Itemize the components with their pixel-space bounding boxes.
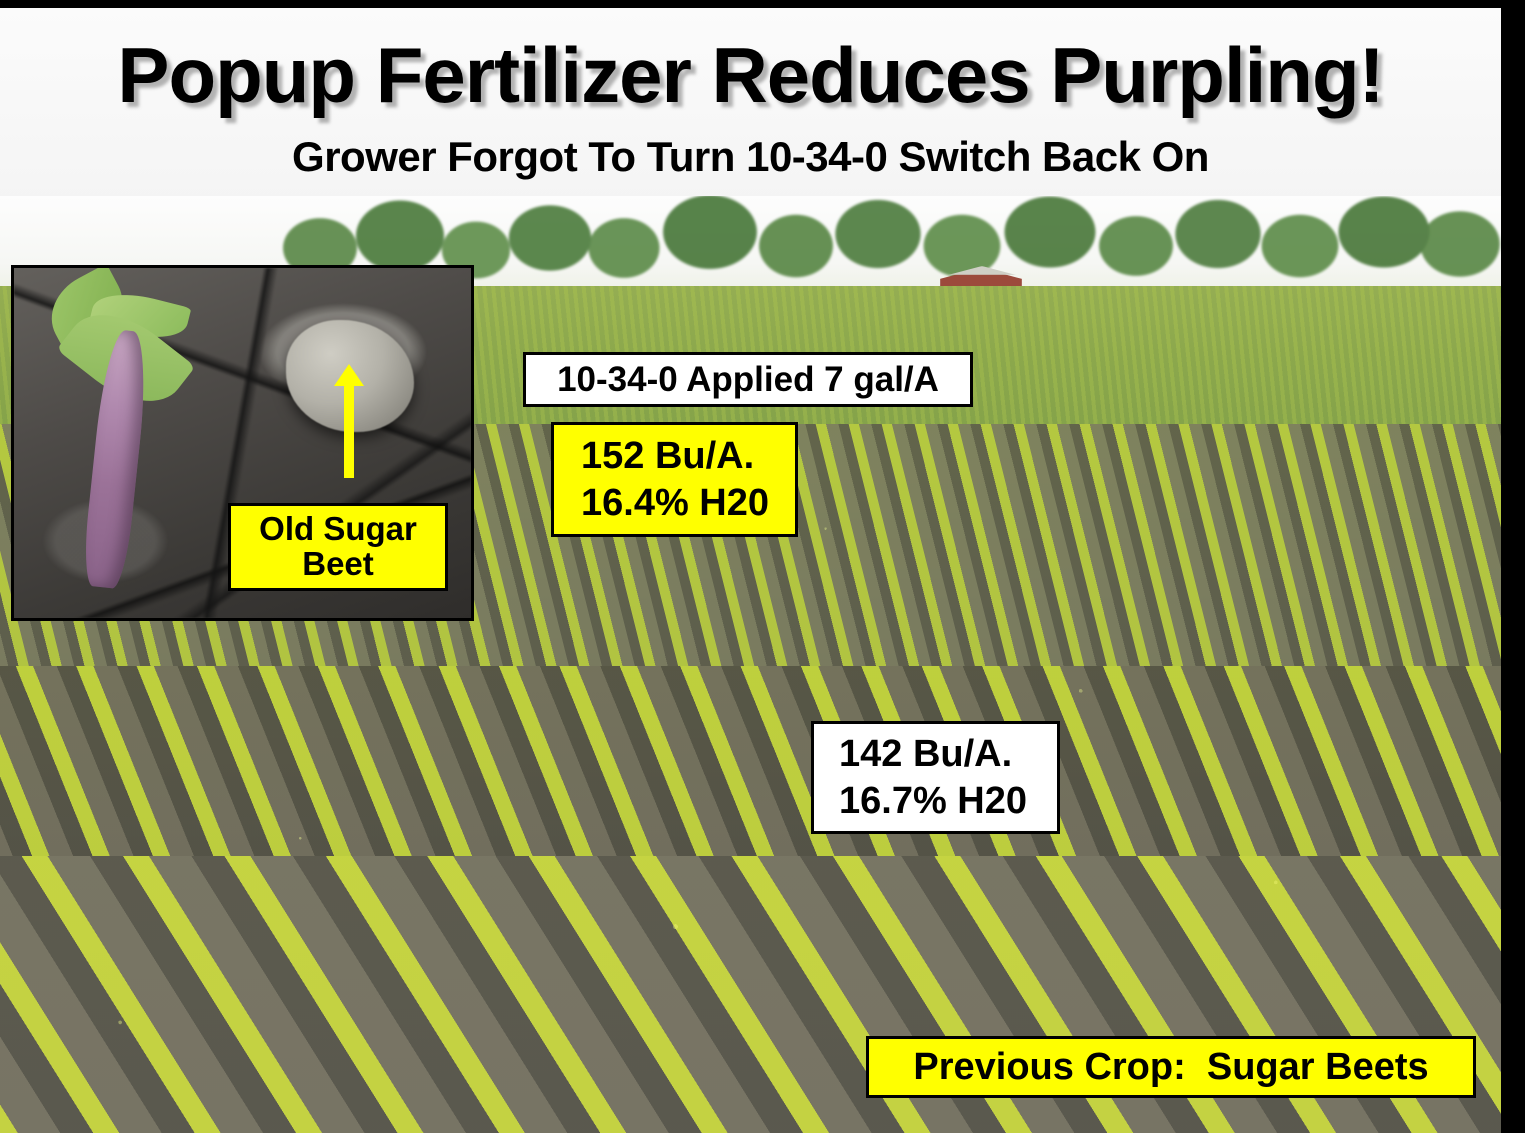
fertilizer-rate-text: 10-34-0 Applied 7 gal/A <box>557 360 939 400</box>
slide-subtitle: Grower Forgot To Turn 10-34-0 Switch Bac… <box>0 133 1501 181</box>
callout-treated-yield: 152 Bu/A. 16.4% H20 <box>551 422 798 537</box>
arrow-shaft <box>344 378 354 478</box>
inset-label-line-2: Beet <box>302 547 374 582</box>
purpled-corn-seedling <box>40 270 210 600</box>
treated-moisture-value: 16.4% H20 <box>581 480 795 526</box>
callout-untreated-yield: 142 Bu/A. 16.7% H20 <box>811 721 1060 834</box>
inset-label-old-sugar-beet: Old Sugar Beet <box>228 503 448 591</box>
callout-fertilizer-rate: 10-34-0 Applied 7 gal/A <box>523 352 973 407</box>
slide-title: Popup Fertilizer Reduces Purpling! <box>0 30 1501 121</box>
previous-crop-text: Previous Crop: Sugar Beets <box>913 1046 1428 1089</box>
presentation-slide: Popup Fertilizer Reduces Purpling! Growe… <box>0 0 1525 1133</box>
callout-previous-crop: Previous Crop: Sugar Beets <box>866 1036 1476 1098</box>
untreated-moisture-value: 16.7% H20 <box>839 778 1057 824</box>
untreated-yield-value: 142 Bu/A. <box>839 731 1057 777</box>
inset-label-line-1: Old Sugar <box>259 512 417 547</box>
slide-frame-right <box>1501 0 1525 1133</box>
slide-frame-top <box>0 0 1525 8</box>
treated-yield-value: 152 Bu/A. <box>581 433 795 479</box>
